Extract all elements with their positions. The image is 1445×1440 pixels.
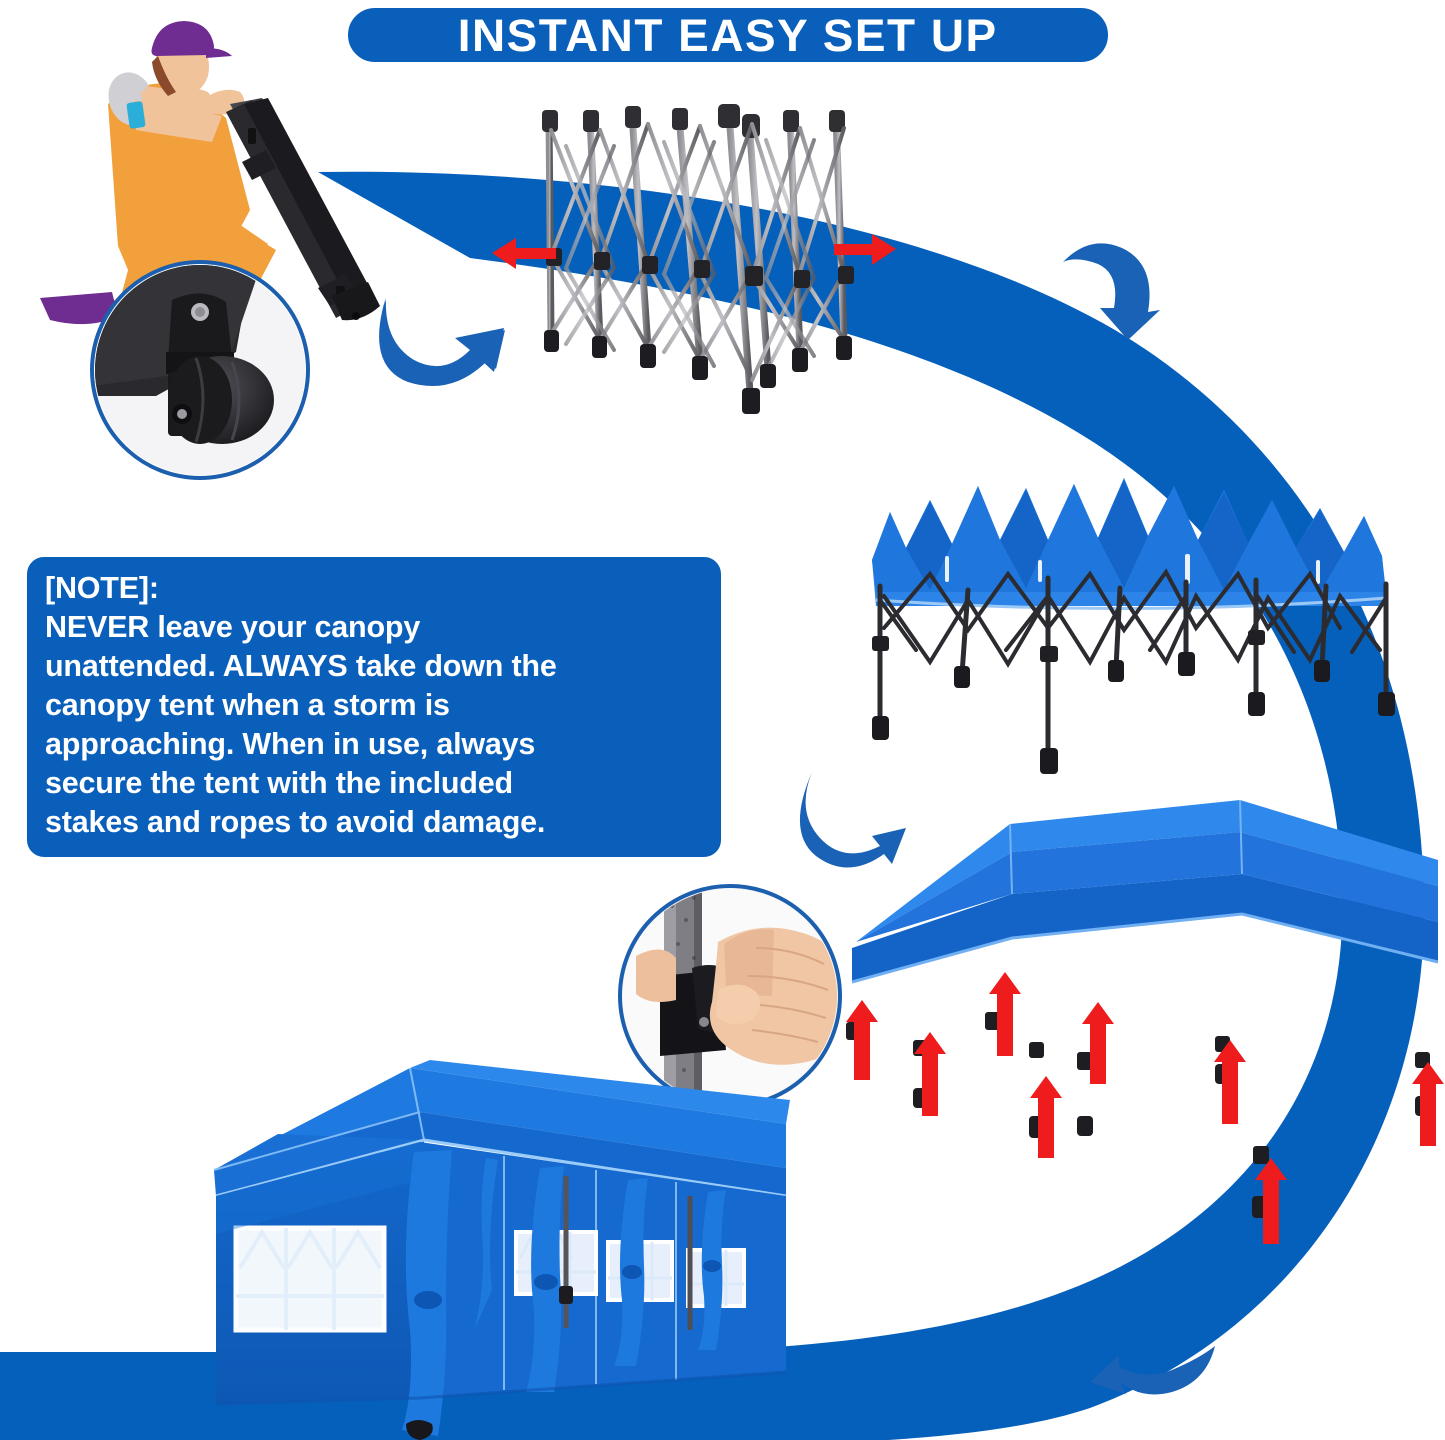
note-line: approaching. When in use, always (45, 725, 703, 764)
note-line: unattended. ALWAYS take down the (45, 647, 703, 686)
note-callout-box: [NOTE]: NEVER leave your canopy unattend… (24, 554, 724, 860)
infographic-canvas: INSTANT EASY SET UP [NOTE]: NEVER leave … (0, 0, 1445, 1440)
note-line: canopy tent when a storm is (45, 686, 703, 725)
note-line: NEVER leave your canopy (45, 608, 703, 647)
page-title: INSTANT EASY SET UP (458, 13, 998, 58)
note-line: [NOTE]: (45, 569, 703, 608)
finished-canopy-tent (214, 1060, 790, 1440)
note-line: secure the tent with the included (45, 764, 703, 803)
note-line: stakes and ropes to avoid damage. (45, 803, 703, 842)
title-banner: INSTANT EASY SET UP (344, 4, 1112, 66)
